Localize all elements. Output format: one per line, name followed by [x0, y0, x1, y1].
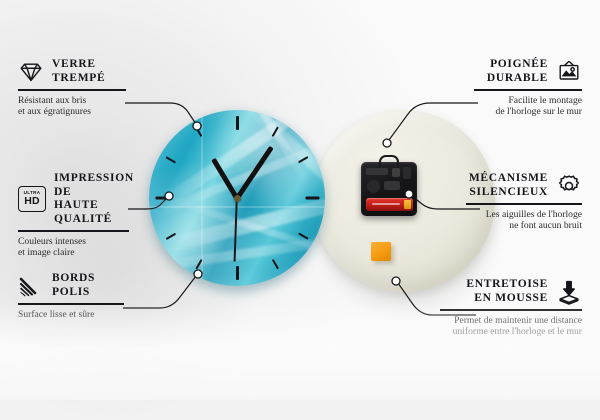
- feature-poignee-durable[interactable]: POIGNÉE DURABLE Facilite le montage de l…: [474, 58, 582, 118]
- feature-divider: [466, 203, 582, 205]
- diamond-icon: [18, 59, 44, 85]
- feature-title: IMPRESSION DE HAUTE QUALITÉ: [54, 172, 134, 226]
- mechanism-detail: [403, 167, 411, 179]
- feature-heading: ENTRETOISE EN MOUSSE: [440, 278, 582, 305]
- feature-divider: [18, 230, 129, 232]
- foam-spacer: [371, 242, 391, 261]
- clock-tick: [236, 116, 239, 130]
- gear-icon: [556, 173, 582, 199]
- feature-divider: [18, 303, 124, 305]
- hanging-picture-frame-icon: [556, 59, 582, 85]
- feature-title: ENTRETOISE EN MOUSSE: [466, 278, 548, 305]
- aa-battery: [366, 198, 413, 211]
- clock-tick: [272, 259, 279, 270]
- ultra-hd-icon: ultra HD: [18, 186, 46, 212]
- foam-spacer-icon: [556, 279, 582, 305]
- feature-divider: [440, 309, 582, 311]
- mechanism-detail: [384, 181, 400, 190]
- mechanism-detail: [367, 180, 380, 193]
- mechanism-hanger-icon: [379, 155, 399, 168]
- mechanism-detail: [392, 168, 400, 177]
- feature-description: Résistant aux bris et aux égratignures: [18, 95, 126, 118]
- feature-description: Facilite le montage de l'horloge sur le …: [474, 95, 582, 118]
- clock-front-view: [149, 110, 325, 286]
- feature-description: Surface lisse et sûre: [18, 309, 124, 321]
- feature-description: Permet de maintenir une distance uniform…: [440, 315, 582, 338]
- clock-tick: [155, 197, 169, 200]
- feature-description: Les aiguilles de l'horloge ne font aucun…: [466, 209, 582, 232]
- feature-title: MÉCANISME SILENCIEUX: [469, 172, 548, 199]
- clock-mechanism: [361, 162, 417, 216]
- mechanism-detail: [366, 168, 388, 175]
- battery-cap: [404, 200, 411, 209]
- ultra-hd-main-label: HD: [24, 196, 40, 207]
- feature-heading: BORDS POLIS: [18, 272, 124, 299]
- feature-heading: VERRE TREMPÉ: [18, 58, 126, 85]
- feature-verre-trempe[interactable]: VERRE TREMPÉ Résistant aux bris et aux é…: [18, 58, 126, 118]
- feature-title: BORDS POLIS: [52, 272, 95, 299]
- battery-stripe: [372, 203, 400, 205]
- feature-heading: ultra HD IMPRESSION DE HAUTE QUALITÉ: [18, 172, 129, 226]
- clock-tick: [236, 266, 239, 280]
- feature-divider: [18, 89, 126, 91]
- clock-center-cap: [234, 195, 241, 202]
- feature-entretoise-en-mousse[interactable]: ENTRETOISE EN MOUSSE Permet de maintenir…: [440, 278, 582, 338]
- infographic-canvas: VERRE TREMPÉ Résistant aux bris et aux é…: [0, 0, 600, 400]
- feature-bords-polis[interactable]: BORDS POLIS Surface lisse et sûre: [18, 272, 124, 320]
- clock-tick: [305, 197, 319, 200]
- feature-heading: MÉCANISME SILENCIEUX: [466, 172, 582, 199]
- feature-mecanisme-silencieux[interactable]: MÉCANISME SILENCIEUX Les aiguilles de l'…: [466, 172, 582, 232]
- clock-tick: [165, 156, 176, 163]
- feature-impression-haute-qualite[interactable]: ultra HD IMPRESSION DE HAUTE QUALITÉ Cou…: [18, 172, 129, 259]
- polished-edges-icon: [18, 273, 44, 299]
- feature-title: POIGNÉE DURABLE: [487, 58, 548, 85]
- feature-heading: POIGNÉE DURABLE: [474, 58, 582, 85]
- feature-title: VERRE TREMPÉ: [52, 58, 105, 85]
- feature-divider: [474, 89, 582, 91]
- feature-description: Couleurs intenses et image claire: [18, 236, 129, 259]
